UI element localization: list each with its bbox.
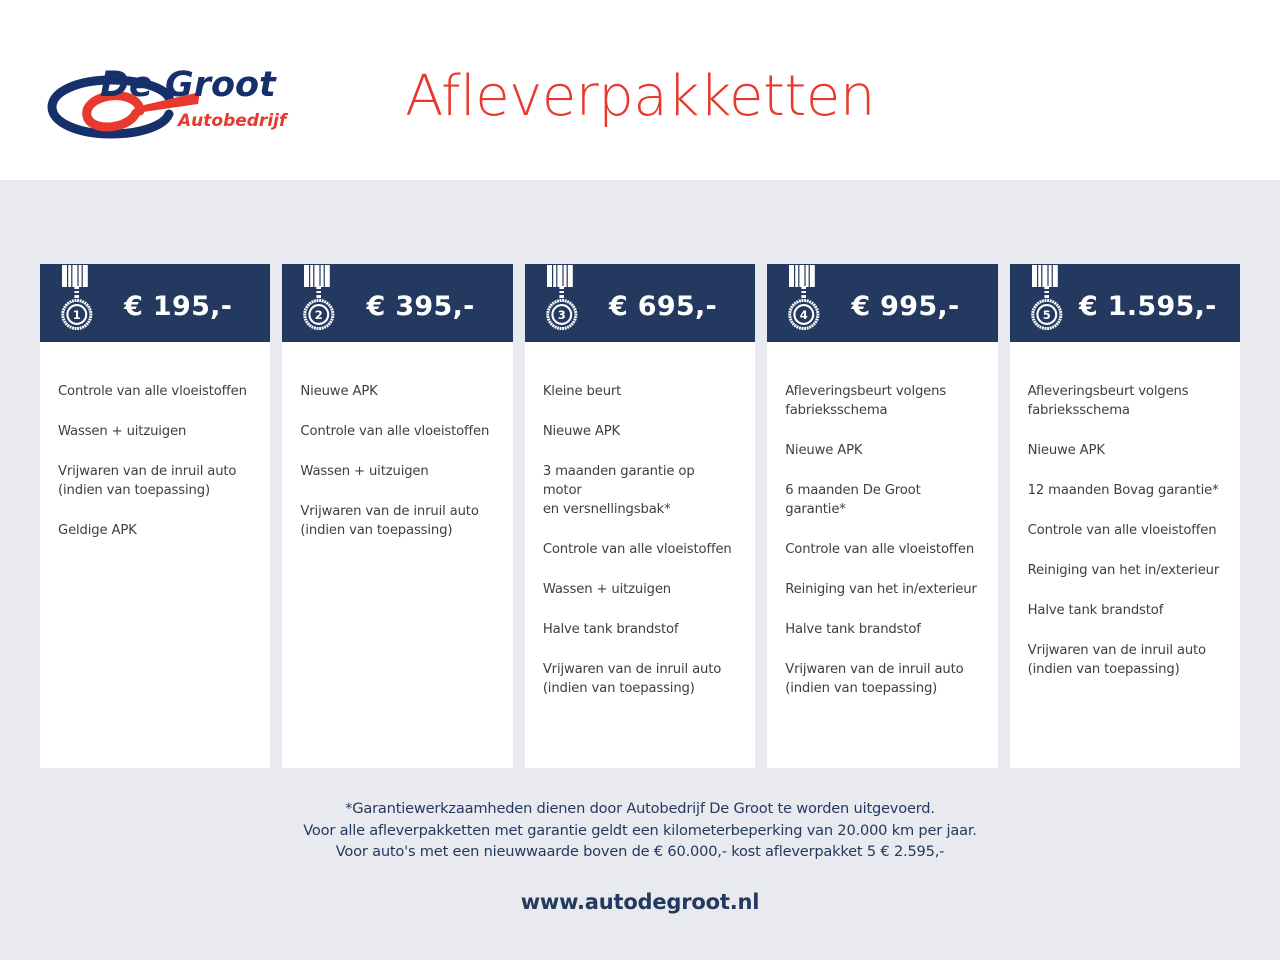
medal-rank-number: 1: [73, 308, 81, 322]
feature-item: Reiniging van het in/exterieur: [1028, 561, 1222, 580]
feature-item: Vrijwaren van de inruil auto(indien van …: [58, 462, 252, 500]
footnote-line: Voor alle afleverpakketten met garantie …: [0, 820, 1280, 842]
medal-icon: 5: [1024, 265, 1070, 337]
package-price: € 995,-: [827, 285, 981, 322]
medal-icon: 3: [539, 265, 585, 337]
feature-item: Wassen + uitzuigen: [543, 580, 737, 599]
page-header: De Groot Autobedrijf Afleverpakketten: [0, 0, 1280, 180]
feature-text: Controle van alle vloeistoffen: [785, 542, 974, 557]
feature-text: Halve tank brandstof: [543, 622, 679, 637]
footnote-line: Voor auto's met een nieuwwaarde boven de…: [0, 841, 1280, 863]
feature-text: Nieuwe APK: [1028, 443, 1105, 458]
feature-item: Vrijwaren van de inruil auto(indien van …: [300, 502, 494, 540]
website-url[interactable]: www.autodegroot.nl: [0, 890, 1280, 914]
package-price: € 1.595,-: [1070, 285, 1224, 322]
feature-text: Wassen + uitzuigen: [543, 582, 671, 597]
feature-item: Nieuwe APK: [543, 422, 737, 441]
medal-icon: 3: [539, 265, 585, 337]
feature-item: Nieuwe APK: [300, 382, 494, 401]
feature-item: Vrijwaren van de inruil auto(indien van …: [543, 660, 737, 698]
feature-text: Controle van alle vloeistoffen: [543, 542, 732, 557]
feature-text: Nieuwe APK: [785, 443, 862, 458]
feature-item: Geldige APK: [58, 521, 252, 540]
feature-item: Nieuwe APK: [1028, 441, 1222, 460]
feature-text: Vrijwaren van de inruil auto: [300, 504, 478, 519]
medal-rank-number: 3: [558, 308, 566, 322]
medal-icon: 1: [54, 265, 100, 337]
feature-text: Afleveringsbeurt volgens: [785, 384, 946, 399]
feature-item: Controle van alle vloeistoffen: [300, 422, 494, 441]
feature-item: Kleine beurt: [543, 382, 737, 401]
feature-text: Halve tank brandstof: [1028, 603, 1164, 618]
feature-item: Halve tank brandstof: [1028, 601, 1222, 620]
poster-page: De Groot Autobedrijf Afleverpakketten 1€…: [0, 0, 1280, 960]
package-card[interactable]: 2€ 395,-Nieuwe APKControle van alle vloe…: [282, 264, 512, 768]
page-title: Afleverpakketten: [0, 64, 1280, 129]
package-card-header: 1€ 195,-: [40, 264, 270, 342]
feature-subtext: en versnellingsbak*: [543, 500, 737, 519]
feature-text: 6 maanden De Groot garantie*: [785, 483, 920, 517]
feature-text: Controle van alle vloeistoffen: [300, 424, 489, 439]
medal-icon: 4: [781, 265, 827, 337]
package-card[interactable]: 4€ 995,-Afleveringsbeurt volgensfabrieks…: [767, 264, 997, 768]
medal-rank-number: 5: [1042, 308, 1050, 322]
package-card[interactable]: 1€ 195,-Controle van alle vloeistoffenWa…: [40, 264, 270, 768]
feature-item: Controle van alle vloeistoffen: [543, 540, 737, 559]
feature-subtext: (indien van toepassing): [300, 521, 494, 540]
package-feature-list: Controle van alle vloeistoffenWassen + u…: [40, 342, 270, 768]
package-card-header: 4€ 995,-: [767, 264, 997, 342]
packages-row: 1€ 195,-Controle van alle vloeistoffenWa…: [40, 264, 1240, 768]
medal-icon: 5: [1024, 265, 1070, 337]
feature-text: 12 maanden Bovag garantie*: [1028, 483, 1219, 498]
package-card-header: 2€ 395,-: [282, 264, 512, 342]
feature-subtext: fabrieksschema: [785, 401, 979, 420]
footnotes: *Garantiewerkzaamheden dienen door Autob…: [0, 798, 1280, 863]
package-feature-list: Afleveringsbeurt volgensfabrieksschemaNi…: [767, 342, 997, 768]
medal-icon: 4: [781, 265, 827, 337]
medal-icon: 2: [296, 265, 342, 337]
feature-text: Nieuwe APK: [300, 384, 377, 399]
footnote-line: *Garantiewerkzaamheden dienen door Autob…: [0, 798, 1280, 820]
medal-rank-number: 2: [315, 308, 323, 322]
feature-text: Wassen + uitzuigen: [58, 424, 186, 439]
package-price: € 395,-: [342, 285, 496, 322]
feature-item: Reiniging van het in/exterieur: [785, 580, 979, 599]
package-price: € 195,-: [100, 285, 254, 322]
feature-item: Nieuwe APK: [785, 441, 979, 460]
feature-text: Vrijwaren van de inruil auto: [58, 464, 236, 479]
feature-item: Controle van alle vloeistoffen: [58, 382, 252, 401]
package-card-header: 3€ 695,-: [525, 264, 755, 342]
feature-text: Nieuwe APK: [543, 424, 620, 439]
feature-item: 3 maanden garantie op motoren versnellin…: [543, 462, 737, 519]
feature-item: Vrijwaren van de inruil auto(indien van …: [1028, 641, 1222, 679]
feature-subtext: (indien van toepassing): [785, 679, 979, 698]
feature-text: Vrijwaren van de inruil auto: [543, 662, 721, 677]
feature-item: Afleveringsbeurt volgensfabrieksschema: [785, 382, 979, 420]
package-price: € 695,-: [585, 285, 739, 322]
feature-item: Wassen + uitzuigen: [300, 462, 494, 481]
feature-item: 12 maanden Bovag garantie*: [1028, 481, 1222, 500]
feature-text: Kleine beurt: [543, 384, 621, 399]
feature-text: Afleveringsbeurt volgens: [1028, 384, 1189, 399]
feature-text: Reiniging van het in/exterieur: [1028, 563, 1220, 578]
package-card-header: 5€ 1.595,-: [1010, 264, 1240, 342]
feature-item: 6 maanden De Groot garantie*: [785, 481, 979, 519]
feature-item: Controle van alle vloeistoffen: [785, 540, 979, 559]
medal-icon: 1: [54, 265, 100, 337]
feature-item: Halve tank brandstof: [785, 620, 979, 639]
feature-text: Controle van alle vloeistoffen: [1028, 523, 1217, 538]
feature-subtext: (indien van toepassing): [58, 481, 252, 500]
feature-text: 3 maanden garantie op motor: [543, 464, 695, 498]
medal-rank-number: 4: [800, 308, 808, 322]
feature-subtext: (indien van toepassing): [1028, 660, 1222, 679]
feature-text: Halve tank brandstof: [785, 622, 921, 637]
package-feature-list: Kleine beurtNieuwe APK3 maanden garantie…: [525, 342, 755, 768]
feature-item: Controle van alle vloeistoffen: [1028, 521, 1222, 540]
package-card[interactable]: 5€ 1.595,-Afleveringsbeurt volgensfabrie…: [1010, 264, 1240, 768]
feature-item: Vrijwaren van de inruil auto(indien van …: [785, 660, 979, 698]
package-feature-list: Afleveringsbeurt volgensfabrieksschemaNi…: [1010, 342, 1240, 768]
feature-text: Wassen + uitzuigen: [300, 464, 428, 479]
medal-icon: 2: [296, 265, 342, 337]
feature-text: Geldige APK: [58, 523, 137, 538]
feature-subtext: fabrieksschema: [1028, 401, 1222, 420]
feature-text: Vrijwaren van de inruil auto: [1028, 643, 1206, 658]
feature-item: Halve tank brandstof: [543, 620, 737, 639]
feature-text: Vrijwaren van de inruil auto: [785, 662, 963, 677]
feature-item: Wassen + uitzuigen: [58, 422, 252, 441]
feature-subtext: (indien van toepassing): [543, 679, 737, 698]
package-card[interactable]: 3€ 695,-Kleine beurtNieuwe APK3 maanden …: [525, 264, 755, 768]
feature-text: Reiniging van het in/exterieur: [785, 582, 977, 597]
feature-text: Controle van alle vloeistoffen: [58, 384, 247, 399]
package-feature-list: Nieuwe APKControle van alle vloeistoffen…: [282, 342, 512, 768]
feature-item: Afleveringsbeurt volgensfabrieksschema: [1028, 382, 1222, 420]
